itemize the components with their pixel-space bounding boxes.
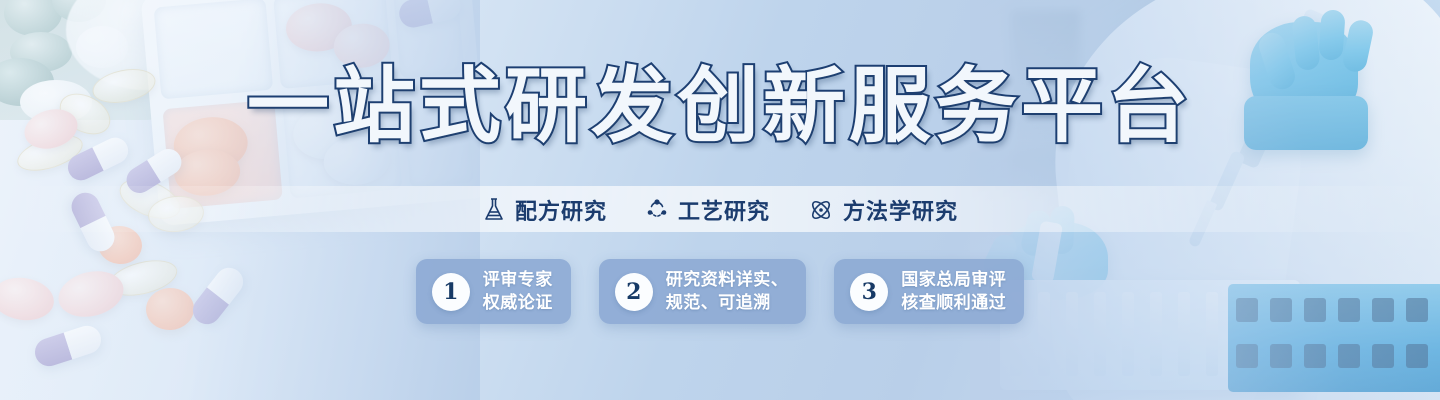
card-number: 1 xyxy=(432,273,470,311)
flask-icon xyxy=(482,197,506,223)
feature-cards: 1 评审专家 权威论证 2 研究资料详实、 规范、可追溯 3 国家总局审评 核查… xyxy=(0,259,1440,324)
feature-card-2[interactable]: 2 研究资料详实、 规范、可追溯 xyxy=(599,259,807,324)
subtitle-item-process[interactable]: 工艺研究 xyxy=(645,194,770,226)
card-line-2: 核查顺利通过 xyxy=(901,292,1006,314)
subtitle-item-formulation[interactable]: 配方研究 xyxy=(482,194,607,226)
subtitle-label: 配方研究 xyxy=(515,194,607,226)
card-line-2: 权威论证 xyxy=(483,292,553,314)
card-number: 3 xyxy=(850,273,888,311)
atom-icon xyxy=(808,197,834,223)
card-text: 研究资料详实、 规范、可追溯 xyxy=(666,269,789,313)
subtitle-row: 配方研究 工艺研究 xyxy=(0,190,1440,230)
feature-card-3[interactable]: 3 国家总局审评 核查顺利通过 xyxy=(834,259,1024,324)
page-title: 一站式研发创新服务平台 xyxy=(0,66,1440,148)
subtitle-label: 方法学研究 xyxy=(843,194,958,226)
card-text: 评审专家 权威论证 xyxy=(483,269,553,313)
subtitle-item-methodology[interactable]: 方法学研究 xyxy=(808,194,958,226)
card-text: 国家总局审评 核查顺利通过 xyxy=(901,269,1006,313)
feature-card-1[interactable]: 1 评审专家 权威论证 xyxy=(416,259,571,324)
molecule-icon xyxy=(645,197,669,223)
card-line-2: 规范、可追溯 xyxy=(666,292,789,314)
promo-banner: 一站式研发创新服务平台 配方研究 xyxy=(0,0,1440,400)
subtitle-label: 工艺研究 xyxy=(678,194,770,226)
card-line-1: 国家总局审评 xyxy=(901,269,1006,291)
card-line-1: 评审专家 xyxy=(483,269,553,291)
card-number: 2 xyxy=(615,273,653,311)
card-line-1: 研究资料详实、 xyxy=(666,269,789,291)
